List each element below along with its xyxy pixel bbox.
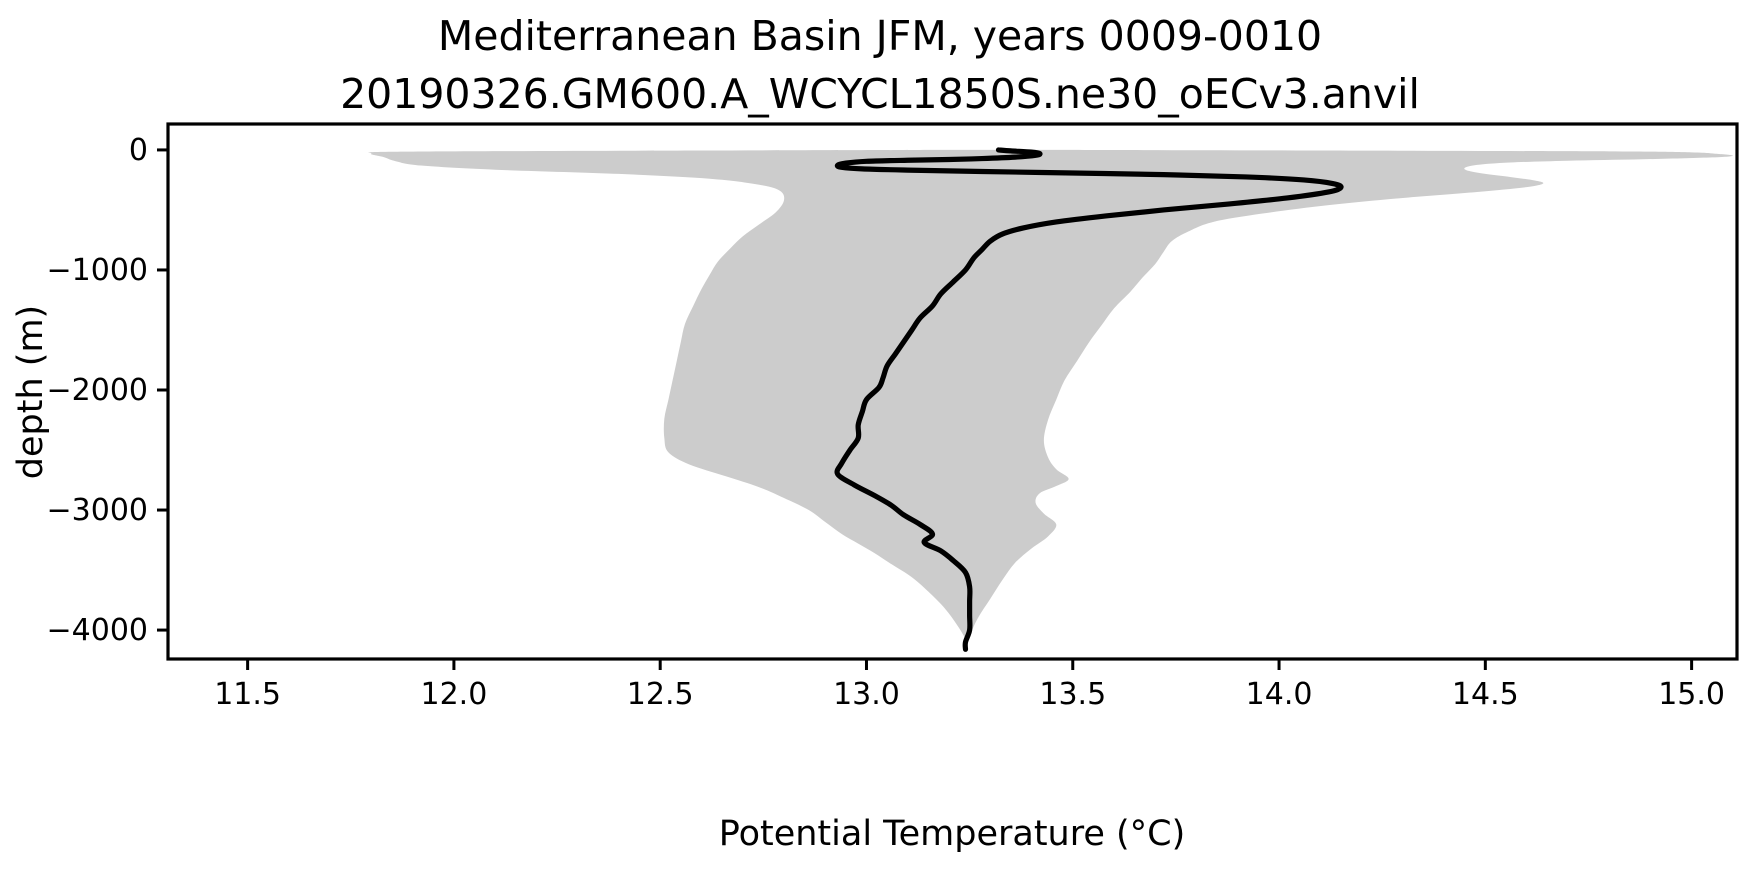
x-tick-label: 13.5	[1039, 677, 1106, 712]
chart-title-line-2: 20190326.GM600.A_WCYCL1850S.ne30_oECv3.a…	[340, 70, 1420, 118]
chart-title-line-1: Mediterranean Basin JFM, years 0009-0010	[438, 12, 1322, 60]
figure-canvas: Mediterranean Basin JFM, years 0009-0010…	[0, 0, 1761, 882]
x-tick-label: 15.0	[1658, 677, 1725, 712]
x-tick-label: 12.0	[421, 677, 488, 712]
x-axis-ticks: 11.512.012.513.013.514.014.515.0	[214, 659, 1725, 712]
y-tick-label: −2000	[47, 373, 148, 408]
y-tick-label: −1000	[47, 253, 148, 288]
x-tick-label: 14.0	[1246, 677, 1313, 712]
x-tick-label: 11.5	[214, 677, 281, 712]
y-tick-label: −4000	[47, 613, 148, 648]
x-axis-label: Potential Temperature (°C)	[719, 814, 1186, 854]
potential-temperature-depth-profile-chart: Mediterranean Basin JFM, years 0009-0010…	[0, 0, 1761, 882]
y-tick-label: −3000	[47, 493, 148, 528]
y-axis-ticks: 0−1000−2000−3000−4000	[47, 133, 168, 648]
y-axis-label: depth (m)	[11, 305, 51, 479]
y-tick-label: 0	[129, 133, 148, 168]
x-tick-label: 12.5	[627, 677, 694, 712]
x-tick-label: 14.5	[1452, 677, 1519, 712]
x-tick-label: 13.0	[833, 677, 900, 712]
